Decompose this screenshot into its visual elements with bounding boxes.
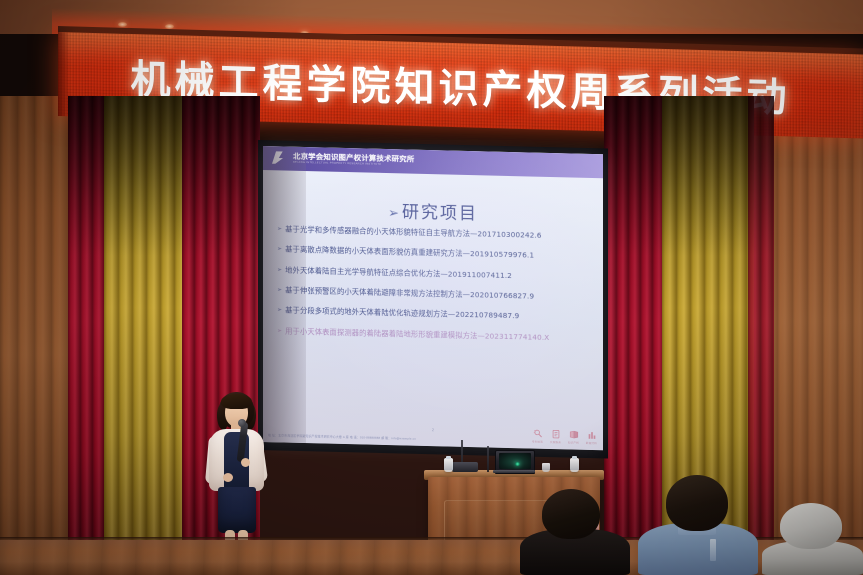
document-icon: 文献服务: [549, 429, 562, 444]
list-item: ➢ 基于离散点降数据的小天体表面形貌仿真重建研究方法—201910579976.…: [277, 245, 595, 263]
bullet-marker-icon: ➢: [277, 326, 282, 335]
list-item: ➢ 基于伸张预警区的小天体着陆避障非常规方法控制方法—202010766827.…: [277, 285, 595, 303]
laptop-screen: [499, 453, 531, 469]
audience-lanyard: [710, 539, 716, 561]
slide-footer: 地 址：北京市海淀区学院路知识产权技术研究中心大楼 A 座 电 话：010-88…: [268, 422, 598, 445]
bullet-text: 用于小天体表面探测器的着陆器着陆地形形貌重建模拟方法—202311774140.…: [285, 326, 595, 343]
audience-member: [762, 509, 863, 575]
presentation-slide: 北京学会知识图产权计算技术研究所 BEIJING INTELLECTUAL PR…: [263, 146, 603, 450]
book-icon: 知识产权: [567, 429, 580, 444]
presenter-hand-right: [241, 458, 250, 467]
chart-bars-icon: 数据分析: [585, 430, 598, 445]
bullet-marker-icon: ➢: [277, 224, 282, 233]
footer-icon-label: 数据分析: [586, 441, 597, 445]
audience-member: [520, 495, 630, 575]
slide-footer-text: 地 址：北京市海淀区学院路知识产权技术研究中心大楼 A 座 电 话：010-88…: [268, 433, 416, 441]
slide-org-block: 北京学会知识图产权计算技术研究所 BEIJING INTELLECTUAL PR…: [293, 153, 414, 167]
footer-icon-label: 知识产权: [568, 440, 579, 444]
laptop-base: [493, 470, 535, 473]
arrow-logo-icon: [271, 151, 288, 166]
bullet-marker-icon: ➢: [277, 285, 282, 294]
list-item: ➢ 地外天体着陆自主光学导航特征点综合优化方法—201911007411.2: [277, 265, 595, 283]
book-glyph: [568, 429, 580, 439]
presenter-hair-fringe: [221, 394, 252, 409]
footer-icon-label: 专利检索: [532, 440, 543, 444]
chart-bars-glyph: [586, 430, 598, 440]
audience-head: [780, 503, 842, 549]
slide-footer-icons: 专利检索 文献服务: [531, 429, 598, 446]
bullet-marker-icon: ➢: [277, 306, 282, 315]
ceiling-light-icon: [118, 22, 127, 27]
audience-head: [542, 489, 600, 539]
audience-head: [666, 475, 728, 531]
list-item: ➢ 基于分段多项式的地外天体着陆优化轨迹规划方法—202210789487.9: [277, 306, 595, 324]
water-bottle-icon: [570, 458, 579, 472]
photo-scene: 机械工程学院知识产权周系列活动 北京学会知识图产权计算技术研究所 B: [0, 0, 863, 575]
curtain-top-shadow: [604, 96, 668, 256]
list-item: ➢ 用于小天体表面探测器的着陆器着陆地形形貌重建模拟方法—20231177414…: [277, 326, 595, 344]
microphone-base: [452, 462, 478, 472]
presenter-skirt: [218, 487, 256, 533]
list-item: ➢ 基于光学和多传感器融合的小天体形貌特征自主导航方法—201710300242…: [277, 224, 595, 242]
slide-title-text: 研究项目: [402, 202, 478, 224]
bullet-marker-icon: ➢: [277, 265, 282, 274]
water-bottle-icon: [444, 458, 453, 472]
left-gold-curtain: [104, 96, 190, 566]
bottle-cap: [446, 456, 451, 459]
bullet-marker-icon: ➢: [277, 245, 282, 254]
cup-icon: [542, 463, 550, 472]
microphone-head-icon: [238, 419, 246, 427]
patent-search-icon: 专利检索: [531, 429, 544, 444]
title-marker-icon: ➢: [388, 206, 401, 221]
microphone-stand-icon: [487, 446, 489, 472]
bullet-text: 基于光学和多传感器融合的小天体形貌特征自主导航方法—201710300242.6: [285, 225, 595, 242]
bottle-cap: [572, 456, 577, 459]
slide-bullet-list: ➢ 基于光学和多传感器融合的小天体形貌特征自主导航方法—201710300242…: [277, 224, 595, 354]
bullet-text: 基于分段多项式的地外天体着陆优化轨迹规划方法—202210789487.9: [285, 306, 595, 323]
slide-title: ➢研究项目: [263, 194, 603, 227]
laptop-screen-glow: [515, 462, 520, 466]
bullet-text: 地外天体着陆自主光学导航特征点综合优化方法—201911007411.2: [285, 265, 595, 282]
left-wall-wood: [0, 96, 78, 566]
bullet-text: 基于离散点降数据的小天体表面形貌仿真重建研究方法—201910579976.1: [285, 245, 595, 262]
curtain-top-shadow: [104, 96, 190, 256]
curtain-top-shadow: [748, 96, 774, 256]
document-glyph: [550, 429, 562, 439]
projection-screen: 北京学会知识图产权计算技术研究所 BEIJING INTELLECTUAL PR…: [263, 146, 603, 450]
curtain-top-shadow: [182, 96, 260, 256]
presenter-hand-left: [223, 473, 233, 482]
footer-icon-label: 文献服务: [550, 440, 561, 444]
curtain-top-shadow: [662, 96, 754, 256]
bullet-text: 基于伸张预警区的小天体着陆避障非常规方法控制方法—202010766827.9: [285, 286, 595, 303]
audience-member: [638, 477, 758, 575]
patent-search-glyph: [532, 429, 544, 439]
